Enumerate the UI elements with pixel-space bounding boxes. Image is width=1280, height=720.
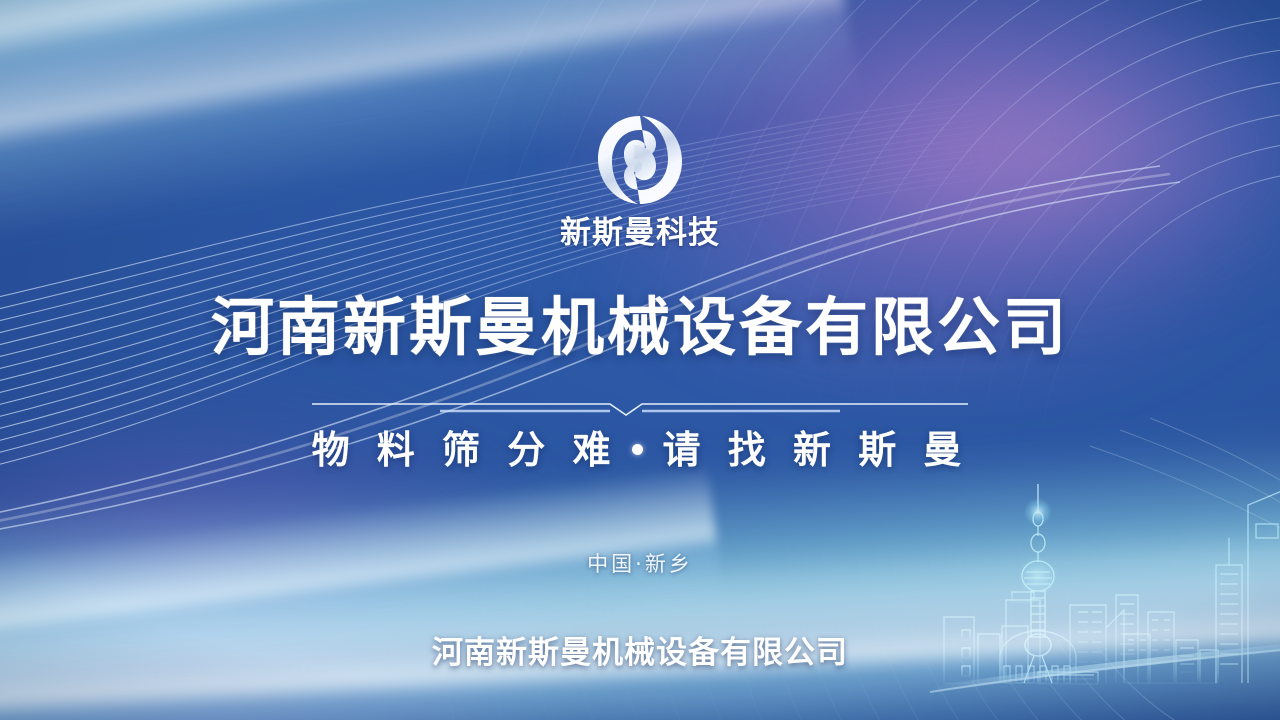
subtitle-bullet-icon bbox=[632, 444, 643, 455]
brand-wordmark: 新斯曼科技 bbox=[560, 218, 720, 249]
subtitle-left: 物 料 筛 分 难 bbox=[312, 428, 618, 472]
page-title: 河南新斯曼机械设备有限公司 bbox=[0, 296, 1280, 359]
presentation-slide: 新斯曼科技 河南新斯曼机械设备有限公司 物 料 筛 分 难请 找 新 斯 曼 中… bbox=[0, 0, 1280, 720]
bottom-caption: 河南新斯曼机械设备有限公司 bbox=[0, 638, 1280, 669]
location-label: 中国·新乡 bbox=[0, 554, 1280, 575]
subtitle-right: 请 找 新 斯 曼 bbox=[663, 428, 969, 472]
slide-subtitle: 物 料 筛 分 难请 找 新 斯 曼 bbox=[0, 428, 1280, 474]
ornamental-v-divider bbox=[310, 398, 970, 420]
slide-content: 新斯曼科技 河南新斯曼机械设备有限公司 物 料 筛 分 难请 找 新 斯 曼 中… bbox=[0, 0, 1280, 720]
company-s-monogram-icon bbox=[586, 110, 694, 210]
brand-logo: 新斯曼科技 bbox=[0, 110, 1280, 249]
